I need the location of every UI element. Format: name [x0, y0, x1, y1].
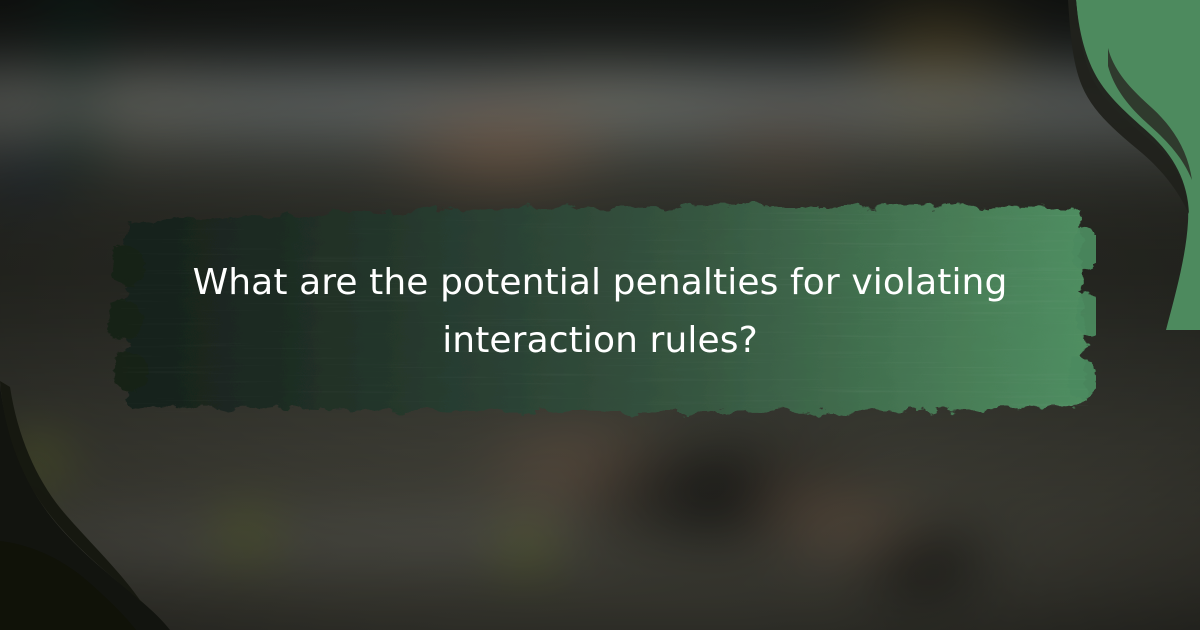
share-card: What are the potential penalties for vio… — [0, 0, 1200, 630]
question-headline: What are the potential penalties for vio… — [150, 200, 1050, 424]
question-line-1: What are the potential penalties for vio… — [193, 254, 1008, 312]
question-line-2: interaction rules? — [442, 312, 758, 370]
